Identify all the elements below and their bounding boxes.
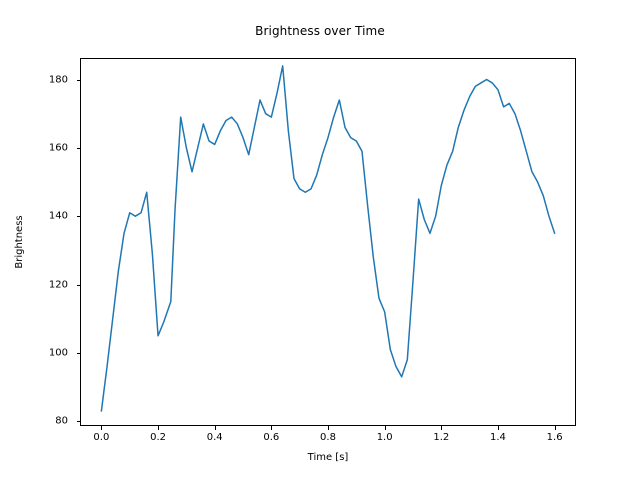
x-tick-mark xyxy=(328,426,329,430)
x-tick-label: 1.6 xyxy=(533,432,577,443)
x-tick-label: 0.6 xyxy=(249,432,293,443)
x-axis-label: Time [s] xyxy=(80,452,576,463)
matplotlib-figure: Brightness over Time 80100120140160180 0… xyxy=(0,0,640,480)
x-tick-label: 0.8 xyxy=(306,432,350,443)
x-tick-mark xyxy=(441,426,442,430)
x-tick-label: 1.2 xyxy=(419,432,463,443)
x-tick-label: 0.0 xyxy=(79,432,123,443)
x-tick-mark xyxy=(385,426,386,430)
x-tick-mark xyxy=(101,426,102,430)
y-axis-label: Brightness xyxy=(14,182,25,302)
x-tick-mark xyxy=(271,426,272,430)
x-tick-label: 1.0 xyxy=(363,432,407,443)
brightness-line xyxy=(101,66,554,411)
x-tick-mark xyxy=(498,426,499,430)
x-tick-mark xyxy=(215,426,216,430)
x-tick-mark xyxy=(555,426,556,430)
x-tick-mark xyxy=(158,426,159,430)
x-tick-label: 0.4 xyxy=(193,432,237,443)
x-tick-label: 0.2 xyxy=(136,432,180,443)
x-tick-label: 1.4 xyxy=(476,432,520,443)
plot-area xyxy=(80,58,576,426)
